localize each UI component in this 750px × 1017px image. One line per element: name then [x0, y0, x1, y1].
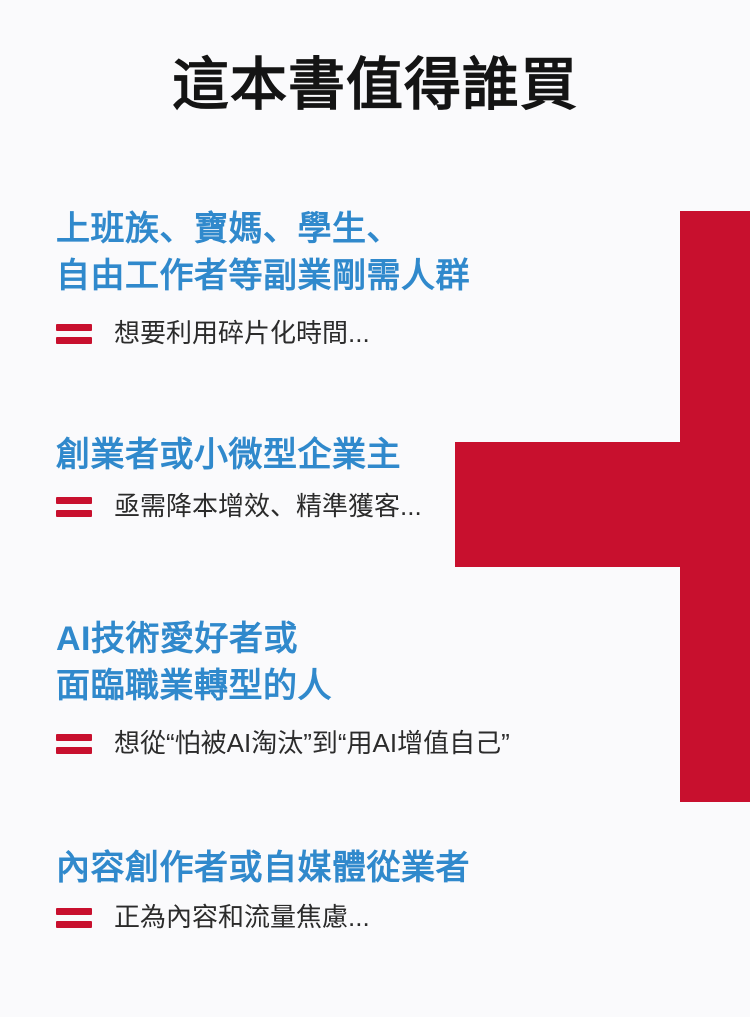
red-vertical-bar: [680, 211, 750, 802]
audience-bullet-text-2: 亟需降本增效、精準獲客...: [114, 489, 422, 523]
equals-bar-icon: [56, 906, 92, 928]
audience-section-1: 上班族、寶媽、學生、 自由工作者等副業剛需人群 想要利用碎片化時間...: [56, 206, 470, 350]
audience-bullet-2: 亟需降本增效、精準獲客...: [56, 489, 422, 523]
page-title: 這本書值得誰買: [0, 52, 750, 119]
audience-bullet-1: 想要利用碎片化時間...: [56, 316, 470, 350]
audience-section-4: 內容創作者或自媒體從業者 正為內容和流量焦慮...: [56, 845, 470, 934]
audience-section-3: AI技術愛好者或 面臨職業轉型的人 想從“怕被AI淘汰”到“用AI增值自己”: [56, 616, 510, 760]
poster-canvas: 這本書值得誰買 上班族、寶媽、學生、 自由工作者等副業剛需人群 想要利用碎片化時…: [0, 0, 750, 1017]
red-horizontal-arm: [455, 442, 750, 567]
equals-bar-icon: [56, 732, 92, 754]
audience-bullet-text-3: 想從“怕被AI淘汰”到“用AI增值自己”: [114, 726, 510, 760]
audience-bullet-4: 正為內容和流量焦慮...: [56, 900, 470, 934]
audience-heading-4: 內容創作者或自媒體從業者: [56, 845, 470, 892]
audience-heading-2: 創業者或小微型企業主: [56, 432, 422, 479]
audience-heading-1: 上班族、寶媽、學生、 自由工作者等副業剛需人群: [56, 206, 470, 300]
audience-heading-3: AI技術愛好者或 面臨職業轉型的人: [56, 616, 510, 710]
audience-bullet-text-1: 想要利用碎片化時間...: [114, 316, 370, 350]
equals-bar-icon: [56, 495, 92, 517]
audience-bullet-3: 想從“怕被AI淘汰”到“用AI增值自己”: [56, 726, 510, 760]
audience-section-2: 創業者或小微型企業主 亟需降本增效、精準獲客...: [56, 432, 422, 523]
equals-bar-icon: [56, 322, 92, 344]
audience-bullet-text-4: 正為內容和流量焦慮...: [114, 900, 370, 934]
